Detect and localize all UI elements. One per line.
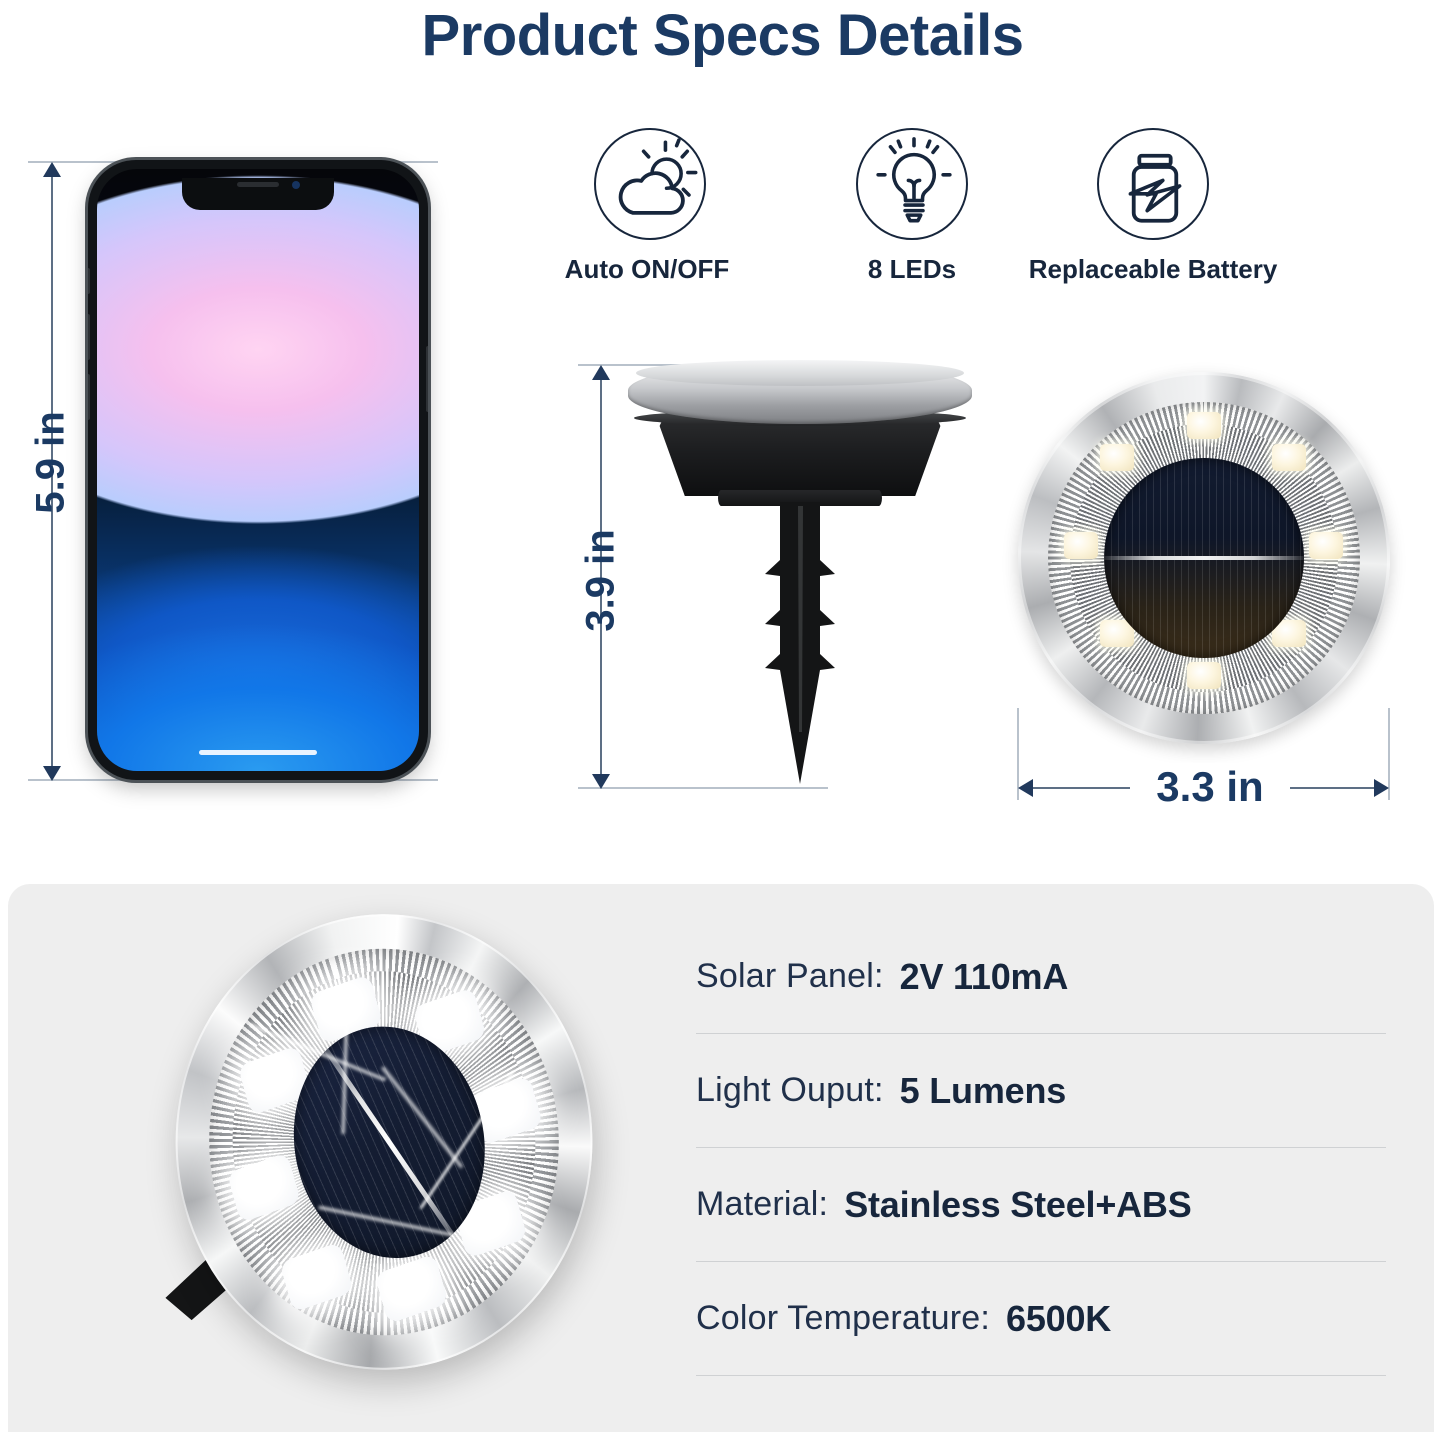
feature-icon-frame	[856, 128, 968, 240]
phone-home-indicator	[199, 750, 317, 755]
feature-replaceable-battery: Replaceable Battery	[1008, 128, 1298, 285]
phone-volume-down-button	[88, 374, 90, 420]
phone-dim-label: 5.9 in	[29, 403, 74, 523]
product-specs-infographic: Product Specs Details Aut	[0, 0, 1445, 1432]
hero-solar-panel-busbar	[313, 1033, 465, 1252]
phone-dim-arrow-top	[43, 162, 61, 177]
feature-icon-frame	[1097, 128, 1209, 240]
solar-panel-busbar	[1104, 556, 1304, 560]
feature-label: 8 LEDs	[822, 254, 1002, 285]
feature-label: Auto ON/OFF	[554, 254, 740, 285]
diameter-label: 3.3 in	[1130, 763, 1290, 811]
led-chip	[1187, 662, 1221, 689]
spec-row: Color Temperature: 6500K	[696, 1262, 1386, 1376]
feature-label: Replaceable Battery	[1008, 254, 1298, 285]
spec-label: Light Ouput:	[696, 1071, 884, 1110]
light-height-arrow-bottom	[592, 774, 610, 789]
spec-value: Stainless Steel+ABS	[844, 1184, 1191, 1226]
hero-product-image	[138, 904, 608, 1384]
light-height-extension-bottom	[578, 787, 828, 789]
light-steel-cap	[628, 362, 972, 424]
solar-panel	[1104, 458, 1304, 658]
led-chip	[1272, 444, 1306, 471]
reference-phone	[88, 160, 428, 780]
light-bulb-icon	[858, 130, 970, 242]
feature-auto-on-off: Auto ON/OFF	[560, 128, 740, 285]
feature-icon-row: Auto ON/OFF	[560, 128, 1300, 288]
led-chip	[1309, 532, 1343, 559]
light-height-label: 3.9 in	[579, 521, 624, 641]
spec-row: Material: Stainless Steel+ABS	[696, 1148, 1386, 1262]
solar-light-side-view	[628, 362, 972, 784]
spec-row: Light Ouput: 5 Lumens	[696, 1034, 1386, 1148]
light-height-arrow-top	[592, 365, 610, 380]
led-chip	[1100, 444, 1134, 471]
phone-power-button	[426, 346, 428, 412]
feature-8-leds: 8 LEDs	[822, 128, 1002, 285]
led-chip	[1064, 532, 1098, 559]
phone-mute-button	[88, 268, 90, 294]
spec-row: Solar Panel: 2V 110mA	[696, 920, 1386, 1034]
diameter-arrow-right	[1374, 779, 1389, 797]
phone-speaker	[237, 182, 279, 187]
solar-light-top-view	[1018, 372, 1390, 744]
spec-value: 6500K	[1006, 1298, 1111, 1340]
spec-label: Material:	[696, 1185, 828, 1224]
specs-panel: Solar Panel: 2V 110mA Light Ouput: 5 Lum…	[8, 884, 1434, 1432]
led-chip	[1187, 412, 1221, 439]
spec-label: Color Temperature:	[696, 1299, 990, 1338]
phone-dim-arrow-bottom	[43, 766, 61, 781]
specs-table: Solar Panel: 2V 110mA Light Ouput: 5 Lum…	[696, 920, 1386, 1376]
battery-bolt-icon	[1099, 130, 1211, 242]
light-body-black	[656, 416, 944, 496]
diameter-arrow-left	[1018, 779, 1033, 797]
spec-value: 5 Lumens	[900, 1070, 1066, 1112]
spec-value: 2V 110mA	[900, 956, 1069, 998]
phone-volume-up-button	[88, 314, 90, 360]
ground-stake	[736, 502, 864, 784]
phone-screen	[97, 169, 419, 771]
feature-icon-frame	[594, 128, 706, 240]
light-steel-cap-top	[636, 360, 964, 386]
page-title: Product Specs Details	[0, 2, 1445, 69]
sun-behind-cloud-icon	[596, 130, 708, 242]
spec-label: Solar Panel:	[696, 957, 884, 996]
phone-front-camera-icon	[292, 181, 300, 189]
